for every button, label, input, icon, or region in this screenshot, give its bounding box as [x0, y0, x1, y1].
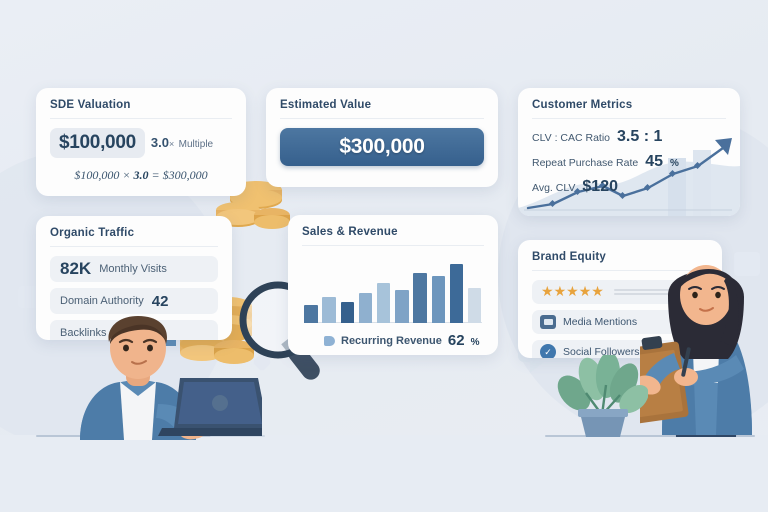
- metric-label: Repeat Purchase Rate: [532, 157, 638, 169]
- multiply-sign: ×: [169, 139, 174, 149]
- chart-bar: [395, 290, 408, 323]
- sales-revenue-bar-chart: [302, 255, 484, 323]
- metric-value: 3.5 : 1: [617, 128, 662, 146]
- metric-unit: %: [670, 158, 679, 169]
- formula-multiple: 3.0: [134, 168, 149, 182]
- card-title: SDE Valuation: [50, 99, 232, 119]
- recurring-revenue-label: Recurring Revenue: [341, 335, 442, 347]
- sde-formula: $100,000 × 3.0 = $300,000: [50, 168, 232, 183]
- chart-bar: [359, 293, 372, 323]
- estimated-value-banner: $300,000: [280, 128, 484, 166]
- formula-left: $100,000: [74, 168, 119, 182]
- chart-bar: [341, 302, 354, 323]
- recurring-revenue-value: 62: [448, 332, 465, 349]
- metric-label: Avg. CLV: [532, 182, 575, 194]
- card-sde-valuation[interactable]: SDE Valuation $100,000 3.0× Multiple $10…: [36, 88, 246, 196]
- media-mentions-icon: [540, 315, 556, 329]
- media-mentions-label: Media Mentions: [563, 316, 637, 328]
- desk-surface: [0, 435, 768, 512]
- card-title: Estimated Value: [280, 99, 484, 119]
- metric-row-clv-cac: CLV : CAC Ratio 3.5 : 1: [532, 128, 726, 146]
- formula-result: $300,000: [163, 168, 208, 182]
- chart-bar: [377, 283, 390, 323]
- card-sales-revenue[interactable]: Sales & Revenue Recurring Revenue 62%: [288, 215, 498, 355]
- person-with-laptop-illustration: [62, 300, 262, 440]
- sde-multiple-group: 3.0× Multiple: [151, 134, 213, 152]
- star-icon: ★: [579, 283, 592, 299]
- star-icon: ★: [554, 283, 567, 299]
- recurring-revenue-unit: %: [471, 337, 480, 348]
- formula-equals: =: [152, 168, 160, 182]
- card-title: Customer Metrics: [532, 99, 726, 119]
- star-icon: ★: [541, 283, 554, 299]
- metric-value: 45: [645, 153, 663, 171]
- chart-bar: [322, 297, 335, 323]
- illustration-canvas: SDE Valuation $100,000 3.0× Multiple $10…: [0, 0, 768, 512]
- card-title: Organic Traffic: [50, 227, 218, 247]
- chart-bar: [304, 305, 317, 323]
- chart-bar: [413, 273, 426, 323]
- star-icon: ★: [566, 283, 579, 299]
- social-followers-icon: ✓: [540, 344, 556, 358]
- star-rating: ★★★★★: [541, 283, 604, 301]
- chart-bar: [432, 276, 445, 323]
- person-with-clipboard-illustration: [640, 255, 768, 437]
- star-icon: ★: [591, 283, 604, 299]
- sde-multiple-value: 3.0: [151, 135, 169, 150]
- metric-row-repeat-purchase: Repeat Purchase Rate 45%: [532, 153, 726, 171]
- legend-marker-icon: [324, 336, 335, 346]
- card-customer-metrics[interactable]: Customer Metrics CLV : CAC Ratio 3.5 : 1…: [518, 88, 740, 216]
- metric-row-avg-clv: Avg. CLV $120: [532, 178, 726, 196]
- recurring-revenue-row: Recurring Revenue 62%: [302, 332, 484, 349]
- chart-bar: [468, 288, 481, 323]
- formula-times: ×: [122, 168, 130, 182]
- potted-plant-illustration: [556, 355, 648, 439]
- sde-amount-value: $100,000: [50, 128, 145, 158]
- card-estimated-value[interactable]: Estimated Value $300,000: [266, 88, 498, 187]
- metric-value: $120: [582, 178, 618, 196]
- organic-visits-row: 82K Monthly Visits: [50, 256, 218, 282]
- card-title: Sales & Revenue: [302, 226, 484, 246]
- metric-label: CLV : CAC Ratio: [532, 132, 610, 144]
- chart-bar: [450, 264, 463, 323]
- monthly-visits-value: 82K: [60, 259, 91, 279]
- sde-multiple-label: Multiple: [179, 139, 213, 150]
- customer-metrics-line-chart: [518, 138, 740, 216]
- monthly-visits-label: Monthly Visits: [99, 263, 167, 275]
